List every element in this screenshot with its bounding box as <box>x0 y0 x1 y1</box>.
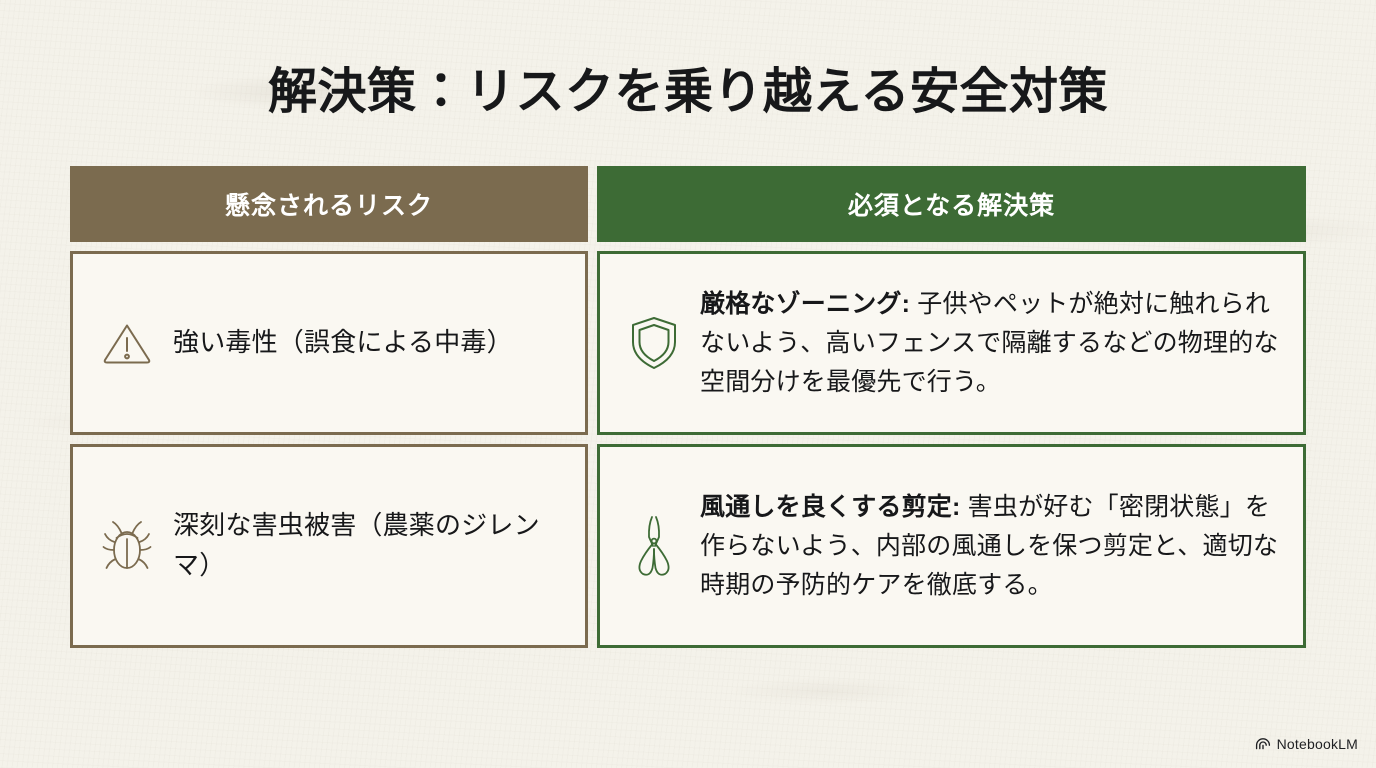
solution-lead-2: 風通しを良くする剪定: <box>700 493 961 521</box>
risk-cell-2: 深刻な害虫被害（農薬のジレンマ） <box>70 444 588 648</box>
warning-triangle-icon <box>95 311 159 375</box>
notebooklm-watermark: NotebookLM <box>1255 736 1358 752</box>
risk-text-2: 深刻な害虫被害（農薬のジレンマ） <box>173 506 565 585</box>
column-header-solution: 必須となる解決策 <box>597 166 1306 242</box>
solution-text-1: 厳格なゾーニング: 子供やペットが絶対に触れられないよう、高いフェンスで隔離する… <box>700 285 1283 402</box>
scissors-icon <box>622 514 686 578</box>
table-row: 強い毒性（誤食による中毒） 厳格なゾーニング: 子供やペットが絶対に触れられない… <box>70 251 1306 435</box>
comparison-table: 懸念されるリスク 必須となる解決策 強い毒性（誤食による中毒） <box>70 166 1306 657</box>
watermark-label: NotebookLM <box>1277 736 1358 752</box>
solution-cell-2: 風通しを良くする剪定: 害虫が好む「密閉状態」を作らないよう、内部の風通しを保つ… <box>597 444 1306 648</box>
table-header-row: 懸念されるリスク 必須となる解決策 <box>70 166 1306 242</box>
risk-text-1: 強い毒性（誤食による中毒） <box>173 323 513 363</box>
risk-cell-1: 強い毒性（誤食による中毒） <box>70 251 588 435</box>
page-title: 解決策：リスクを乗り越える安全対策 <box>0 52 1376 123</box>
notebooklm-logo-icon <box>1255 736 1271 752</box>
solution-cell-1: 厳格なゾーニング: 子供やペットが絶対に触れられないよう、高いフェンスで隔離する… <box>597 251 1306 435</box>
slide-canvas: 解決策：リスクを乗り越える安全対策 懸念されるリスク 必須となる解決策 強い毒性… <box>0 0 1376 768</box>
table-row: 深刻な害虫被害（農薬のジレンマ） 風通しを良くする剪定: 害虫が好む「密閉状態」… <box>70 444 1306 648</box>
solution-lead-1: 厳格なゾーニング: <box>700 290 910 318</box>
shield-icon <box>622 311 686 375</box>
column-header-risk: 懸念されるリスク <box>70 166 588 242</box>
solution-text-2: 風通しを良くする剪定: 害虫が好む「密閉状態」を作らないよう、内部の風通しを保つ… <box>700 488 1283 605</box>
bug-icon <box>95 514 159 578</box>
